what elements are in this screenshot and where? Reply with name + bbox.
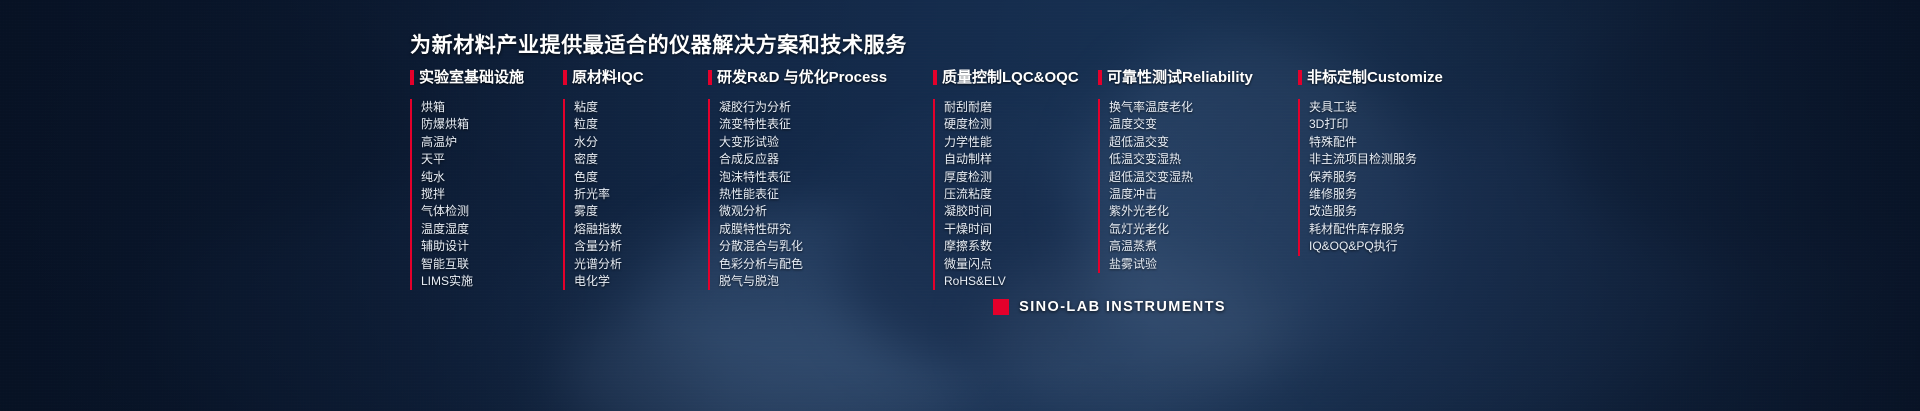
- accent-bar-icon: [708, 70, 712, 85]
- list-item[interactable]: 成膜特性研究: [719, 221, 933, 238]
- list-item[interactable]: 非主流项目检测服务: [1309, 151, 1528, 168]
- column-header: 质量控制LQC&OQC: [933, 66, 1098, 88]
- list-item[interactable]: 电化学: [574, 273, 708, 290]
- list-item[interactable]: 超低温交变湿热: [1109, 169, 1298, 186]
- list-item[interactable]: 换气率温度老化: [1109, 99, 1298, 116]
- category-column-customize: 非标定制Customize 夹具工装 3D打印 特殊配件 非主流项目检测服务 保…: [1298, 66, 1528, 290]
- list-item[interactable]: 凝胶行为分析: [719, 99, 933, 116]
- column-item-list: 烘箱 防爆烘箱 高温炉 天平 纯水 搅拌 气体检测 温度湿度 辅助设计 智能互联…: [410, 99, 563, 290]
- category-column-quality-control: 质量控制LQC&OQC 耐刮耐磨 硬度检测 力学性能 自动制样 厚度检测 压流粘…: [933, 66, 1098, 290]
- list-item[interactable]: 搅拌: [421, 186, 563, 203]
- list-item[interactable]: 智能互联: [421, 256, 563, 273]
- category-column-lab-infrastructure: 实验室基础设施 烘箱 防爆烘箱 高温炉 天平 纯水 搅拌 气体检测 温度湿度 辅…: [410, 66, 563, 290]
- column-header: 实验室基础设施: [410, 66, 563, 88]
- accent-bar-icon: [410, 70, 414, 85]
- column-item-list: 凝胶行为分析 流变特性表征 大变形试验 合成反应器 泡沫特性表征 热性能表征 微…: [708, 99, 933, 290]
- column-header-label: 质量控制LQC&OQC: [942, 70, 1079, 85]
- accent-bar-icon: [1298, 70, 1302, 85]
- list-item[interactable]: 低温交变湿热: [1109, 151, 1298, 168]
- column-header-label: 实验室基础设施: [419, 70, 524, 85]
- list-item[interactable]: 3D打印: [1309, 116, 1528, 133]
- list-item[interactable]: 合成反应器: [719, 151, 933, 168]
- list-item[interactable]: 压流粘度: [944, 186, 1098, 203]
- list-item[interactable]: 烘箱: [421, 99, 563, 116]
- list-item[interactable]: 防爆烘箱: [421, 116, 563, 133]
- list-item[interactable]: 微观分析: [719, 203, 933, 220]
- list-item[interactable]: 硬度检测: [944, 116, 1098, 133]
- list-item[interactable]: 分散混合与乳化: [719, 238, 933, 255]
- column-item-list: 粘度 粒度 水分 密度 色度 折光率 雾度 熔融指数 含量分析 光谱分析 电化学: [563, 99, 708, 290]
- list-item[interactable]: 氙灯光老化: [1109, 221, 1298, 238]
- list-item[interactable]: 光谱分析: [574, 256, 708, 273]
- list-item[interactable]: 粘度: [574, 99, 708, 116]
- column-header: 非标定制Customize: [1298, 66, 1528, 88]
- list-item[interactable]: 大变形试验: [719, 134, 933, 151]
- list-item[interactable]: 辅助设计: [421, 238, 563, 255]
- list-item[interactable]: 折光率: [574, 186, 708, 203]
- list-item[interactable]: 厚度检测: [944, 169, 1098, 186]
- list-item[interactable]: 水分: [574, 134, 708, 151]
- brand-lockup: SINO-LAB INSTRUMENTS: [993, 299, 1226, 315]
- column-header-label: 非标定制Customize: [1307, 70, 1443, 85]
- list-item[interactable]: 夹具工装: [1309, 99, 1528, 116]
- list-item[interactable]: IQ&OQ&PQ执行: [1309, 238, 1528, 255]
- list-item[interactable]: 熔融指数: [574, 221, 708, 238]
- list-item[interactable]: 色彩分析与配色: [719, 256, 933, 273]
- list-item[interactable]: 密度: [574, 151, 708, 168]
- list-item[interactable]: 热性能表征: [719, 186, 933, 203]
- list-item[interactable]: 干燥时间: [944, 221, 1098, 238]
- category-column-raw-material-iqc: 原材料IQC 粘度 粒度 水分 密度 色度 折光率 雾度 熔融指数 含量分析 光…: [563, 66, 708, 290]
- category-column-rnd-process: 研发R&D 与优化Process 凝胶行为分析 流变特性表征 大变形试验 合成反…: [708, 66, 933, 290]
- category-column-reliability: 可靠性测试Reliability 换气率温度老化 温度交变 超低温交变 低温交变…: [1098, 66, 1298, 290]
- list-item[interactable]: 脱气与脱泡: [719, 273, 933, 290]
- list-item[interactable]: 改造服务: [1309, 203, 1528, 220]
- column-item-list: 耐刮耐磨 硬度检测 力学性能 自动制样 厚度检测 压流粘度 凝胶时间 干燥时间 …: [933, 99, 1098, 290]
- list-item[interactable]: 高温炉: [421, 134, 563, 151]
- page-title: 为新材料产业提供最适合的仪器解决方案和技术服务: [410, 29, 907, 59]
- accent-bar-icon: [1098, 70, 1102, 85]
- list-item[interactable]: 紫外光老化: [1109, 203, 1298, 220]
- list-item[interactable]: 耐刮耐磨: [944, 99, 1098, 116]
- list-item[interactable]: 盐雾试验: [1109, 256, 1298, 273]
- list-item[interactable]: 温度冲击: [1109, 186, 1298, 203]
- category-columns: 实验室基础设施 烘箱 防爆烘箱 高温炉 天平 纯水 搅拌 气体检测 温度湿度 辅…: [410, 66, 1528, 290]
- list-item[interactable]: 天平: [421, 151, 563, 168]
- column-header-label: 可靠性测试Reliability: [1107, 70, 1253, 85]
- list-item[interactable]: 高温蒸煮: [1109, 238, 1298, 255]
- list-item[interactable]: 维修服务: [1309, 186, 1528, 203]
- list-item[interactable]: 超低温交变: [1109, 134, 1298, 151]
- list-item[interactable]: 温度湿度: [421, 221, 563, 238]
- list-item[interactable]: 气体检测: [421, 203, 563, 220]
- column-header-label: 研发R&D 与优化Process: [717, 70, 887, 85]
- list-item[interactable]: 特殊配件: [1309, 134, 1528, 151]
- column-header-label: 原材料IQC: [572, 70, 644, 85]
- accent-bar-icon: [933, 70, 937, 85]
- list-item[interactable]: 雾度: [574, 203, 708, 220]
- list-item[interactable]: 微量闪点: [944, 256, 1098, 273]
- column-item-list: 夹具工装 3D打印 特殊配件 非主流项目检测服务 保养服务 维修服务 改造服务 …: [1298, 99, 1528, 256]
- list-item[interactable]: 含量分析: [574, 238, 708, 255]
- column-header: 原材料IQC: [563, 66, 708, 88]
- list-item[interactable]: RoHS&ELV: [944, 273, 1098, 290]
- list-item[interactable]: 力学性能: [944, 134, 1098, 151]
- list-item[interactable]: 纯水: [421, 169, 563, 186]
- list-item[interactable]: LIMS实施: [421, 273, 563, 290]
- list-item[interactable]: 自动制样: [944, 151, 1098, 168]
- list-item[interactable]: 流变特性表征: [719, 116, 933, 133]
- brand-square-icon: [993, 299, 1009, 315]
- accent-bar-icon: [563, 70, 567, 85]
- list-item[interactable]: 粒度: [574, 116, 708, 133]
- column-header: 可靠性测试Reliability: [1098, 66, 1298, 88]
- list-item[interactable]: 摩擦系数: [944, 238, 1098, 255]
- brand-name: SINO-LAB INSTRUMENTS: [1019, 299, 1226, 315]
- list-item[interactable]: 耗材配件库存服务: [1309, 221, 1528, 238]
- list-item[interactable]: 保养服务: [1309, 169, 1528, 186]
- column-header: 研发R&D 与优化Process: [708, 66, 933, 88]
- list-item[interactable]: 温度交变: [1109, 116, 1298, 133]
- list-item[interactable]: 凝胶时间: [944, 203, 1098, 220]
- list-item[interactable]: 泡沫特性表征: [719, 169, 933, 186]
- list-item[interactable]: 色度: [574, 169, 708, 186]
- column-item-list: 换气率温度老化 温度交变 超低温交变 低温交变湿热 超低温交变湿热 温度冲击 紫…: [1098, 99, 1298, 273]
